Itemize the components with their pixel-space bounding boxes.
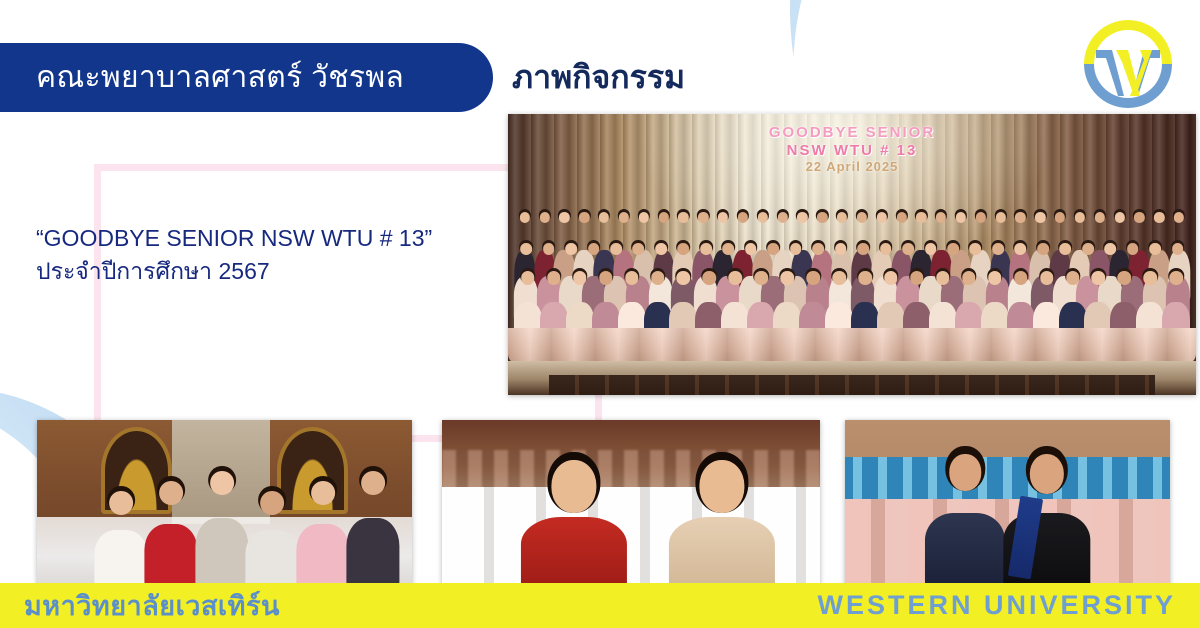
student-head (361, 471, 385, 495)
crowd-person-head (970, 243, 982, 255)
crowd-person-head (755, 271, 768, 284)
guest-head (552, 460, 597, 513)
student-body (94, 530, 147, 588)
crowd-person-head (539, 212, 549, 222)
crowd-person-head (1149, 243, 1161, 255)
footer-bar: มหาวิทยาลัยเวสเทิร์น WESTERN UNIVERSITY (0, 583, 1200, 628)
crowd-person-head (797, 212, 807, 222)
guest-body (669, 517, 775, 588)
guest-head (699, 460, 744, 513)
crowd-person-head (936, 212, 946, 222)
crowd-person-head (976, 212, 986, 222)
crowd-person-head (988, 271, 1001, 284)
crowd-person-head (780, 271, 793, 284)
crowd-person-head (651, 271, 664, 284)
western-university-logo (1074, 10, 1182, 118)
student-body (145, 524, 198, 588)
goodbye-senior-group-photo: GOODBYE SENIOR NSW WTU # 13 22 April 202… (508, 114, 1196, 395)
crowd-person-head (1170, 271, 1183, 284)
crowd-person-head (962, 271, 975, 284)
student-person (97, 491, 145, 588)
student-head (159, 481, 183, 505)
student-head (109, 491, 133, 515)
event-description: “GOODBYE SENIOR NSW WTU # 13” ประจำปีการ… (36, 222, 506, 288)
presenter-head (950, 454, 981, 491)
crowd-person-head (996, 212, 1006, 222)
crowd-person-head (925, 243, 937, 255)
crowd-person-head (520, 243, 532, 255)
student-person (350, 471, 398, 588)
crowd-person-head (902, 243, 914, 255)
crowd-person-head (1075, 212, 1085, 222)
crowd-person-head (1015, 243, 1027, 255)
crowd-person-head (910, 271, 923, 284)
faculty-name-banner: คณะพยาบาลศาสตร์ วัชรพล (0, 43, 493, 112)
guest-body (521, 517, 627, 588)
crowd-person-head (832, 271, 845, 284)
crowd-person-head (1037, 243, 1049, 255)
crowd-person-head (678, 212, 688, 222)
academic-year-line: ประจำปีการศึกษา 2567 (36, 255, 506, 288)
crowd-person-head (1060, 243, 1072, 255)
page-title: ภาพกิจกรรม (512, 52, 685, 103)
presenter-in-navy (930, 454, 1002, 588)
crowd-person-head (547, 271, 560, 284)
student-group (97, 464, 397, 588)
crowd-person-head (599, 271, 612, 284)
crowd-person-head (1066, 271, 1079, 284)
crowd-person-head (573, 271, 586, 284)
crowd-person-head (599, 212, 609, 222)
student-head (260, 491, 284, 515)
crowd-person-head (543, 243, 555, 255)
crowd-person-head (1082, 243, 1094, 255)
student-body (195, 518, 248, 588)
student-head (210, 471, 234, 495)
students-group-banquet-photo (37, 420, 412, 588)
crowd-person-head (1154, 212, 1164, 222)
crowd-person-head (1092, 271, 1105, 284)
presenter-body (925, 513, 1005, 588)
crowd-person-head (880, 243, 892, 255)
slide-canvas: คณะพยาบาลศาสตร์ วัชรพล ภาพกิจกรรม “GOODB… (0, 0, 1200, 628)
crowd-person-head (1174, 212, 1184, 222)
crowd-person-head (1055, 212, 1065, 222)
crowd-person-head (1144, 271, 1157, 284)
crowd-person-head (1095, 212, 1105, 222)
crowd-person-head (1127, 243, 1139, 255)
crowd-person-head (738, 212, 748, 222)
crowd-person-head (857, 212, 867, 222)
footer-university-english: WESTERN UNIVERSITY (817, 590, 1176, 621)
student-person (198, 471, 246, 588)
student-person (249, 491, 297, 588)
crowd-person-head (722, 243, 734, 255)
crowd-person-head (579, 212, 589, 222)
crowd-person-head (1015, 212, 1025, 222)
crowd-person-head (610, 243, 622, 255)
crowd-person-head (817, 212, 827, 222)
guest-in-cream-dress (673, 460, 771, 588)
crowd-person-head (588, 243, 600, 255)
crowd-person-head (992, 243, 1004, 255)
crowd-person-head (837, 212, 847, 222)
crowd-person-head (884, 271, 897, 284)
crowd-person-head (806, 271, 819, 284)
crowd-person-head (559, 212, 569, 222)
stage-table-drape (508, 328, 1196, 365)
crowd-person-head (718, 212, 728, 222)
crowd-person-head (835, 243, 847, 255)
crowd-person-head (625, 271, 638, 284)
crowd-person-head (1114, 212, 1124, 222)
crowd-person-head (658, 212, 668, 222)
crowd-person-head (639, 212, 649, 222)
crowd-person-head (767, 243, 779, 255)
crowd-person-head (619, 212, 629, 222)
crowd-person-head (698, 212, 708, 222)
crowd-person-head (777, 212, 787, 222)
event-title-line: “GOODBYE SENIOR NSW WTU # 13” (36, 222, 506, 255)
crowd-person-head (729, 271, 742, 284)
crowd-person-head (758, 212, 768, 222)
crowd-person-head (956, 212, 966, 222)
student-head (311, 481, 335, 505)
crowd-person-head (857, 243, 869, 255)
crowd-person-head (520, 212, 530, 222)
crowd-person-head (1014, 271, 1027, 284)
crowd-person-head (678, 243, 690, 255)
guest-in-red-dress (525, 460, 623, 588)
crowd-person-head (700, 243, 712, 255)
crowd-person-head (565, 243, 577, 255)
crowd-person-head (947, 243, 959, 255)
crowd-person-head (521, 271, 534, 284)
crowd-person-head (936, 271, 949, 284)
footer-university-thai: มหาวิทยาลัยเวสเทิร์น (24, 584, 280, 627)
crowd-person-head (877, 212, 887, 222)
crowd-person-head (655, 243, 667, 255)
crowd-person-head (1118, 271, 1131, 284)
crowd-person-head (745, 243, 757, 255)
crowd-person-head (896, 212, 906, 222)
crowd-person-head (677, 271, 690, 284)
award-sash-presentation-photo (845, 420, 1170, 588)
two-senior-guests-seated-photo (442, 420, 820, 588)
crowd-person-head (858, 271, 871, 284)
crowd-person-head (1104, 243, 1116, 255)
crowd-person-head (812, 243, 824, 255)
stage-vent-grille (549, 375, 1154, 395)
crowd-person-head (633, 243, 645, 255)
crowd-person-head (916, 212, 926, 222)
crowd-person-head (1040, 271, 1053, 284)
recipient-head (1029, 454, 1063, 495)
student-person (148, 481, 196, 588)
student-person (299, 481, 347, 588)
student-body (347, 518, 400, 588)
crowd-person-head (790, 243, 802, 255)
crowd-person-head (1172, 243, 1184, 255)
crowd-person-head (1035, 212, 1045, 222)
faculty-name-label: คณะพยาบาลศาสตร์ วัชรพล (36, 54, 404, 101)
student-body (296, 524, 349, 588)
crowd-person-head (1134, 212, 1144, 222)
student-body (246, 530, 299, 588)
crowd-person-head (703, 271, 716, 284)
